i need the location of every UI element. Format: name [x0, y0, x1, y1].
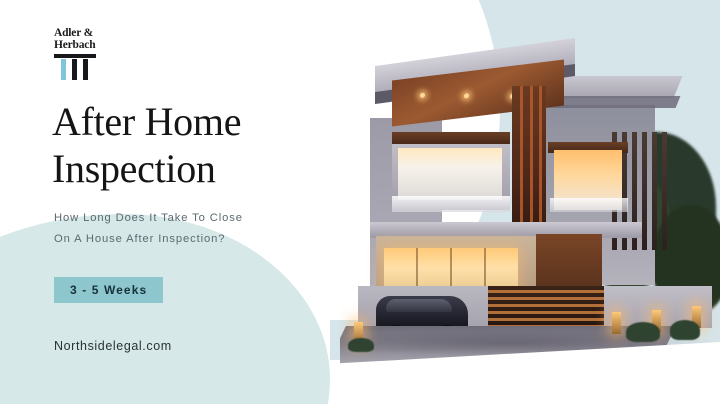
- brand-wordmark: Adler & Herbach: [54, 28, 128, 51]
- poster-canvas: Adler & Herbach After Home Inspection Ho…: [0, 0, 720, 404]
- content-column: Adler & Herbach After Home Inspection Ho…: [0, 0, 340, 404]
- column-icon: [54, 54, 96, 80]
- brand-wordmark-line1: Adler &: [54, 28, 128, 40]
- website-url[interactable]: Northsidelegal.com: [54, 339, 172, 353]
- page-subtitle: How Long Does It Take To Close On A Hous…: [54, 208, 304, 249]
- page-subtitle-line1: How Long Does It Take To Close: [54, 212, 243, 224]
- brand-wordmark-line2: Herbach: [54, 40, 128, 52]
- column-pillar-accent: [61, 59, 66, 80]
- house-photo: [340, 0, 720, 404]
- house-upper-right-balcony-rail: [550, 198, 628, 212]
- page-title: After Home Inspection: [52, 98, 332, 192]
- house-upper-left-glazing: [398, 148, 502, 200]
- house-upper-left-balcony-rail: [392, 196, 510, 212]
- page-subtitle-line2: On A House After Inspection?: [54, 233, 225, 245]
- car-windows: [386, 299, 452, 312]
- house-illustration: [340, 0, 720, 404]
- house-wood-column: [512, 86, 546, 226]
- column-pillar: [72, 59, 77, 80]
- column-capital-bar: [54, 54, 96, 58]
- brand-logo[interactable]: Adler & Herbach: [54, 28, 128, 80]
- column-pillar: [83, 59, 88, 80]
- house-upper-left-header: [392, 132, 510, 144]
- status-badge: 3 - 5 Weeks: [54, 277, 163, 303]
